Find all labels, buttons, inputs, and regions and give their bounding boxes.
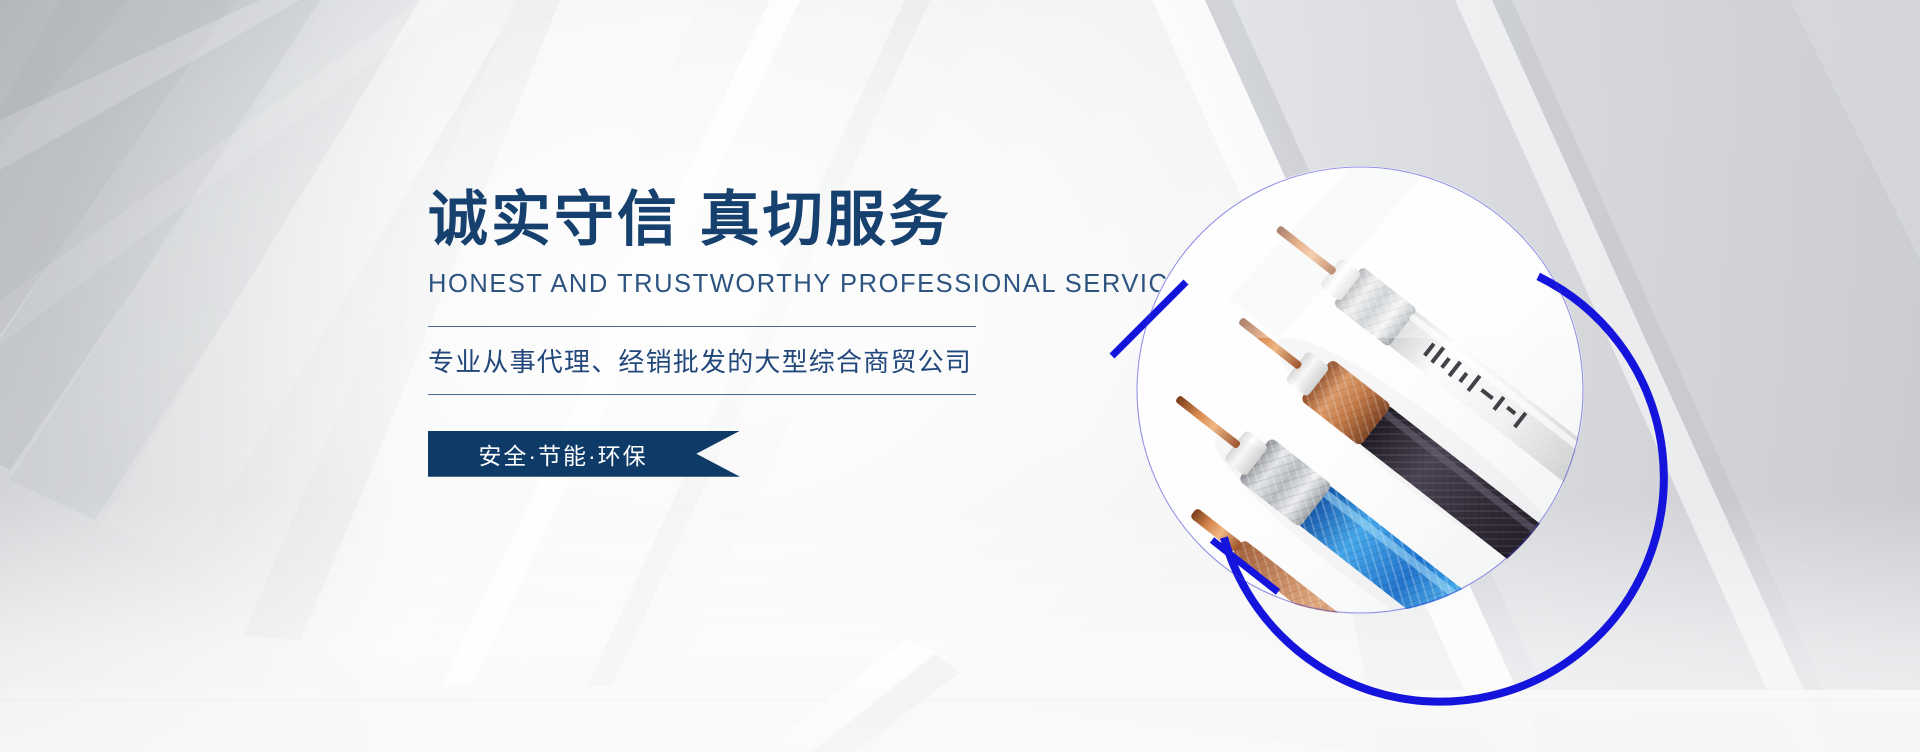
divider-top (428, 326, 976, 327)
hero-banner: 诚实守信 真切服务 HONEST AND TRUSTWORTHY PROFESS… (0, 0, 1920, 752)
feature-ribbon: 安全·节能·环保 (428, 431, 740, 477)
ribbon-label: 安全·节能·环保 (428, 431, 698, 477)
tagline: 专业从事代理、经销批发的大型综合商贸公司 (428, 327, 1128, 394)
hero-copy: 诚实守信 真切服务 HONEST AND TRUSTWORTHY PROFESS… (428, 188, 1128, 477)
divider-bottom (428, 394, 976, 395)
product-medallion (1128, 158, 1592, 622)
subtitle-english: HONEST AND TRUSTWORTHY PROFESSIONAL SERV… (428, 270, 1128, 299)
page-title: 诚实守信 真切服务 (428, 188, 1128, 253)
